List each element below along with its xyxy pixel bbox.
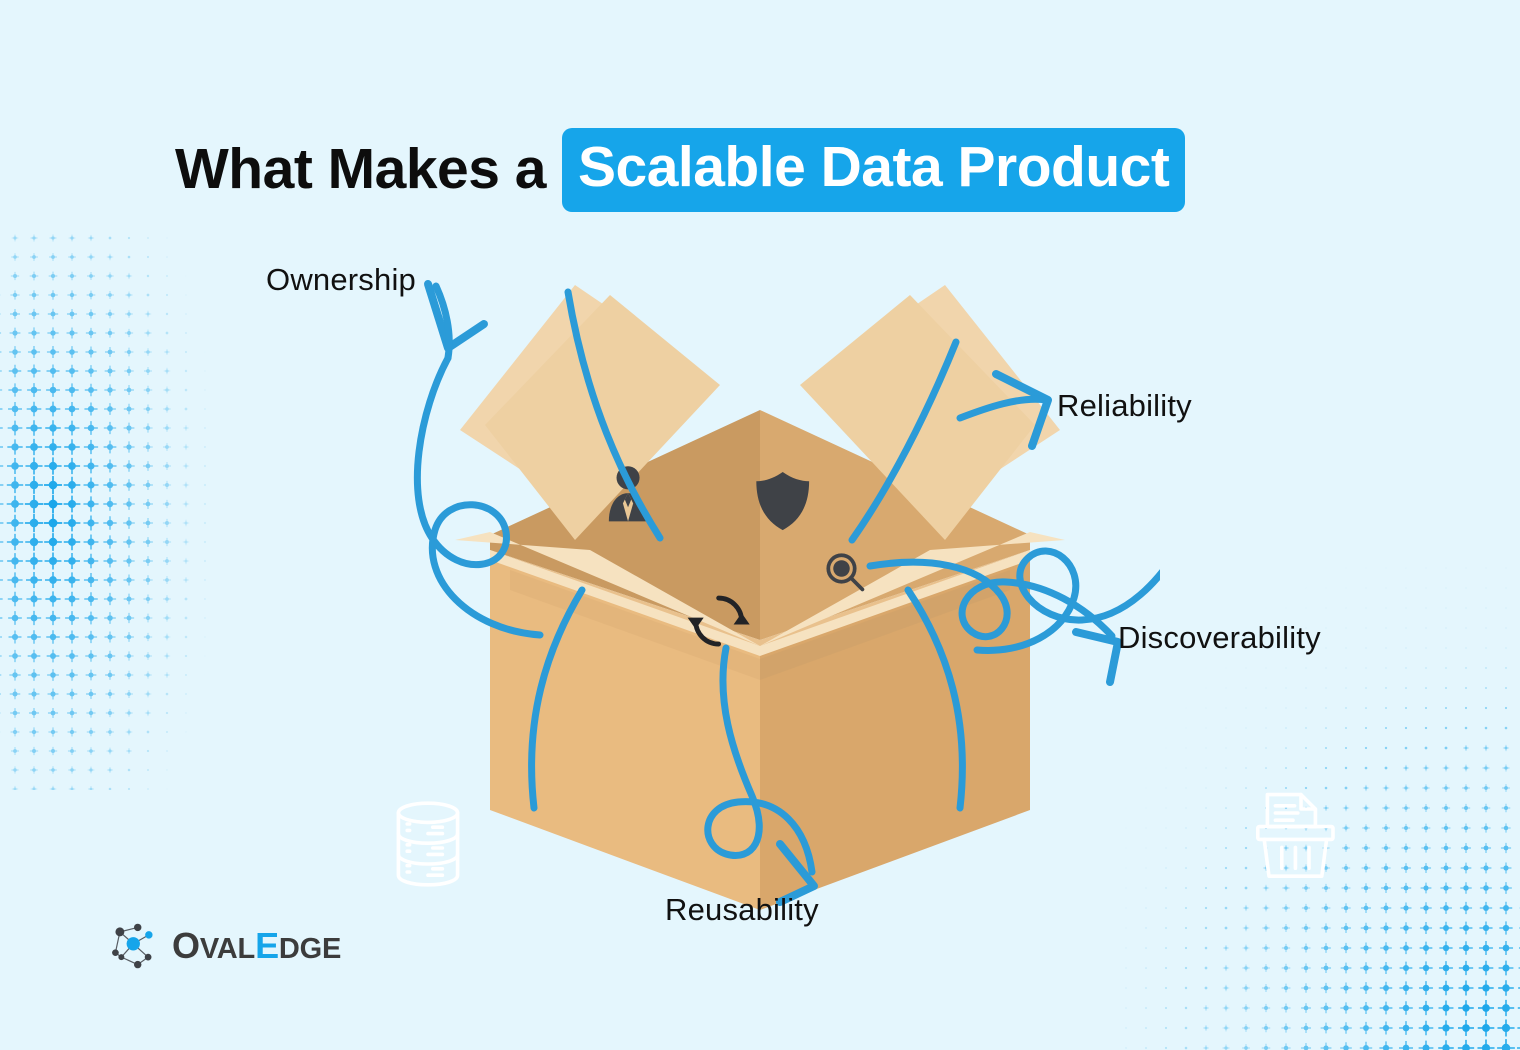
infographic-canvas: What Makes a Scalable Data Product <box>0 0 1520 1050</box>
logo-o: O <box>172 925 200 967</box>
trash-icon <box>1253 785 1341 881</box>
node-label-reusability: Reusability <box>665 892 819 928</box>
logo-e: E <box>255 925 279 967</box>
logo-dge: DGE <box>279 933 341 966</box>
logo-val: VAL <box>200 933 255 966</box>
page-title-highlight: Scalable Data Product <box>562 128 1185 212</box>
brand-logo[interactable]: OVALEDGE <box>108 920 341 972</box>
node-label-reliability: Reliability <box>1057 388 1192 424</box>
logo-wordmark: OVALEDGE <box>172 925 341 967</box>
page-title-plain: What Makes a <box>175 140 562 200</box>
node-label-discoverability: Discoverability <box>1118 620 1321 656</box>
open-box-illustration <box>360 250 1160 910</box>
network-nodes-icon <box>108 920 160 972</box>
node-label-ownership: Ownership <box>266 262 416 298</box>
halftone-left-decoration <box>0 230 220 790</box>
page-title: What Makes a Scalable Data Product <box>175 128 1185 212</box>
